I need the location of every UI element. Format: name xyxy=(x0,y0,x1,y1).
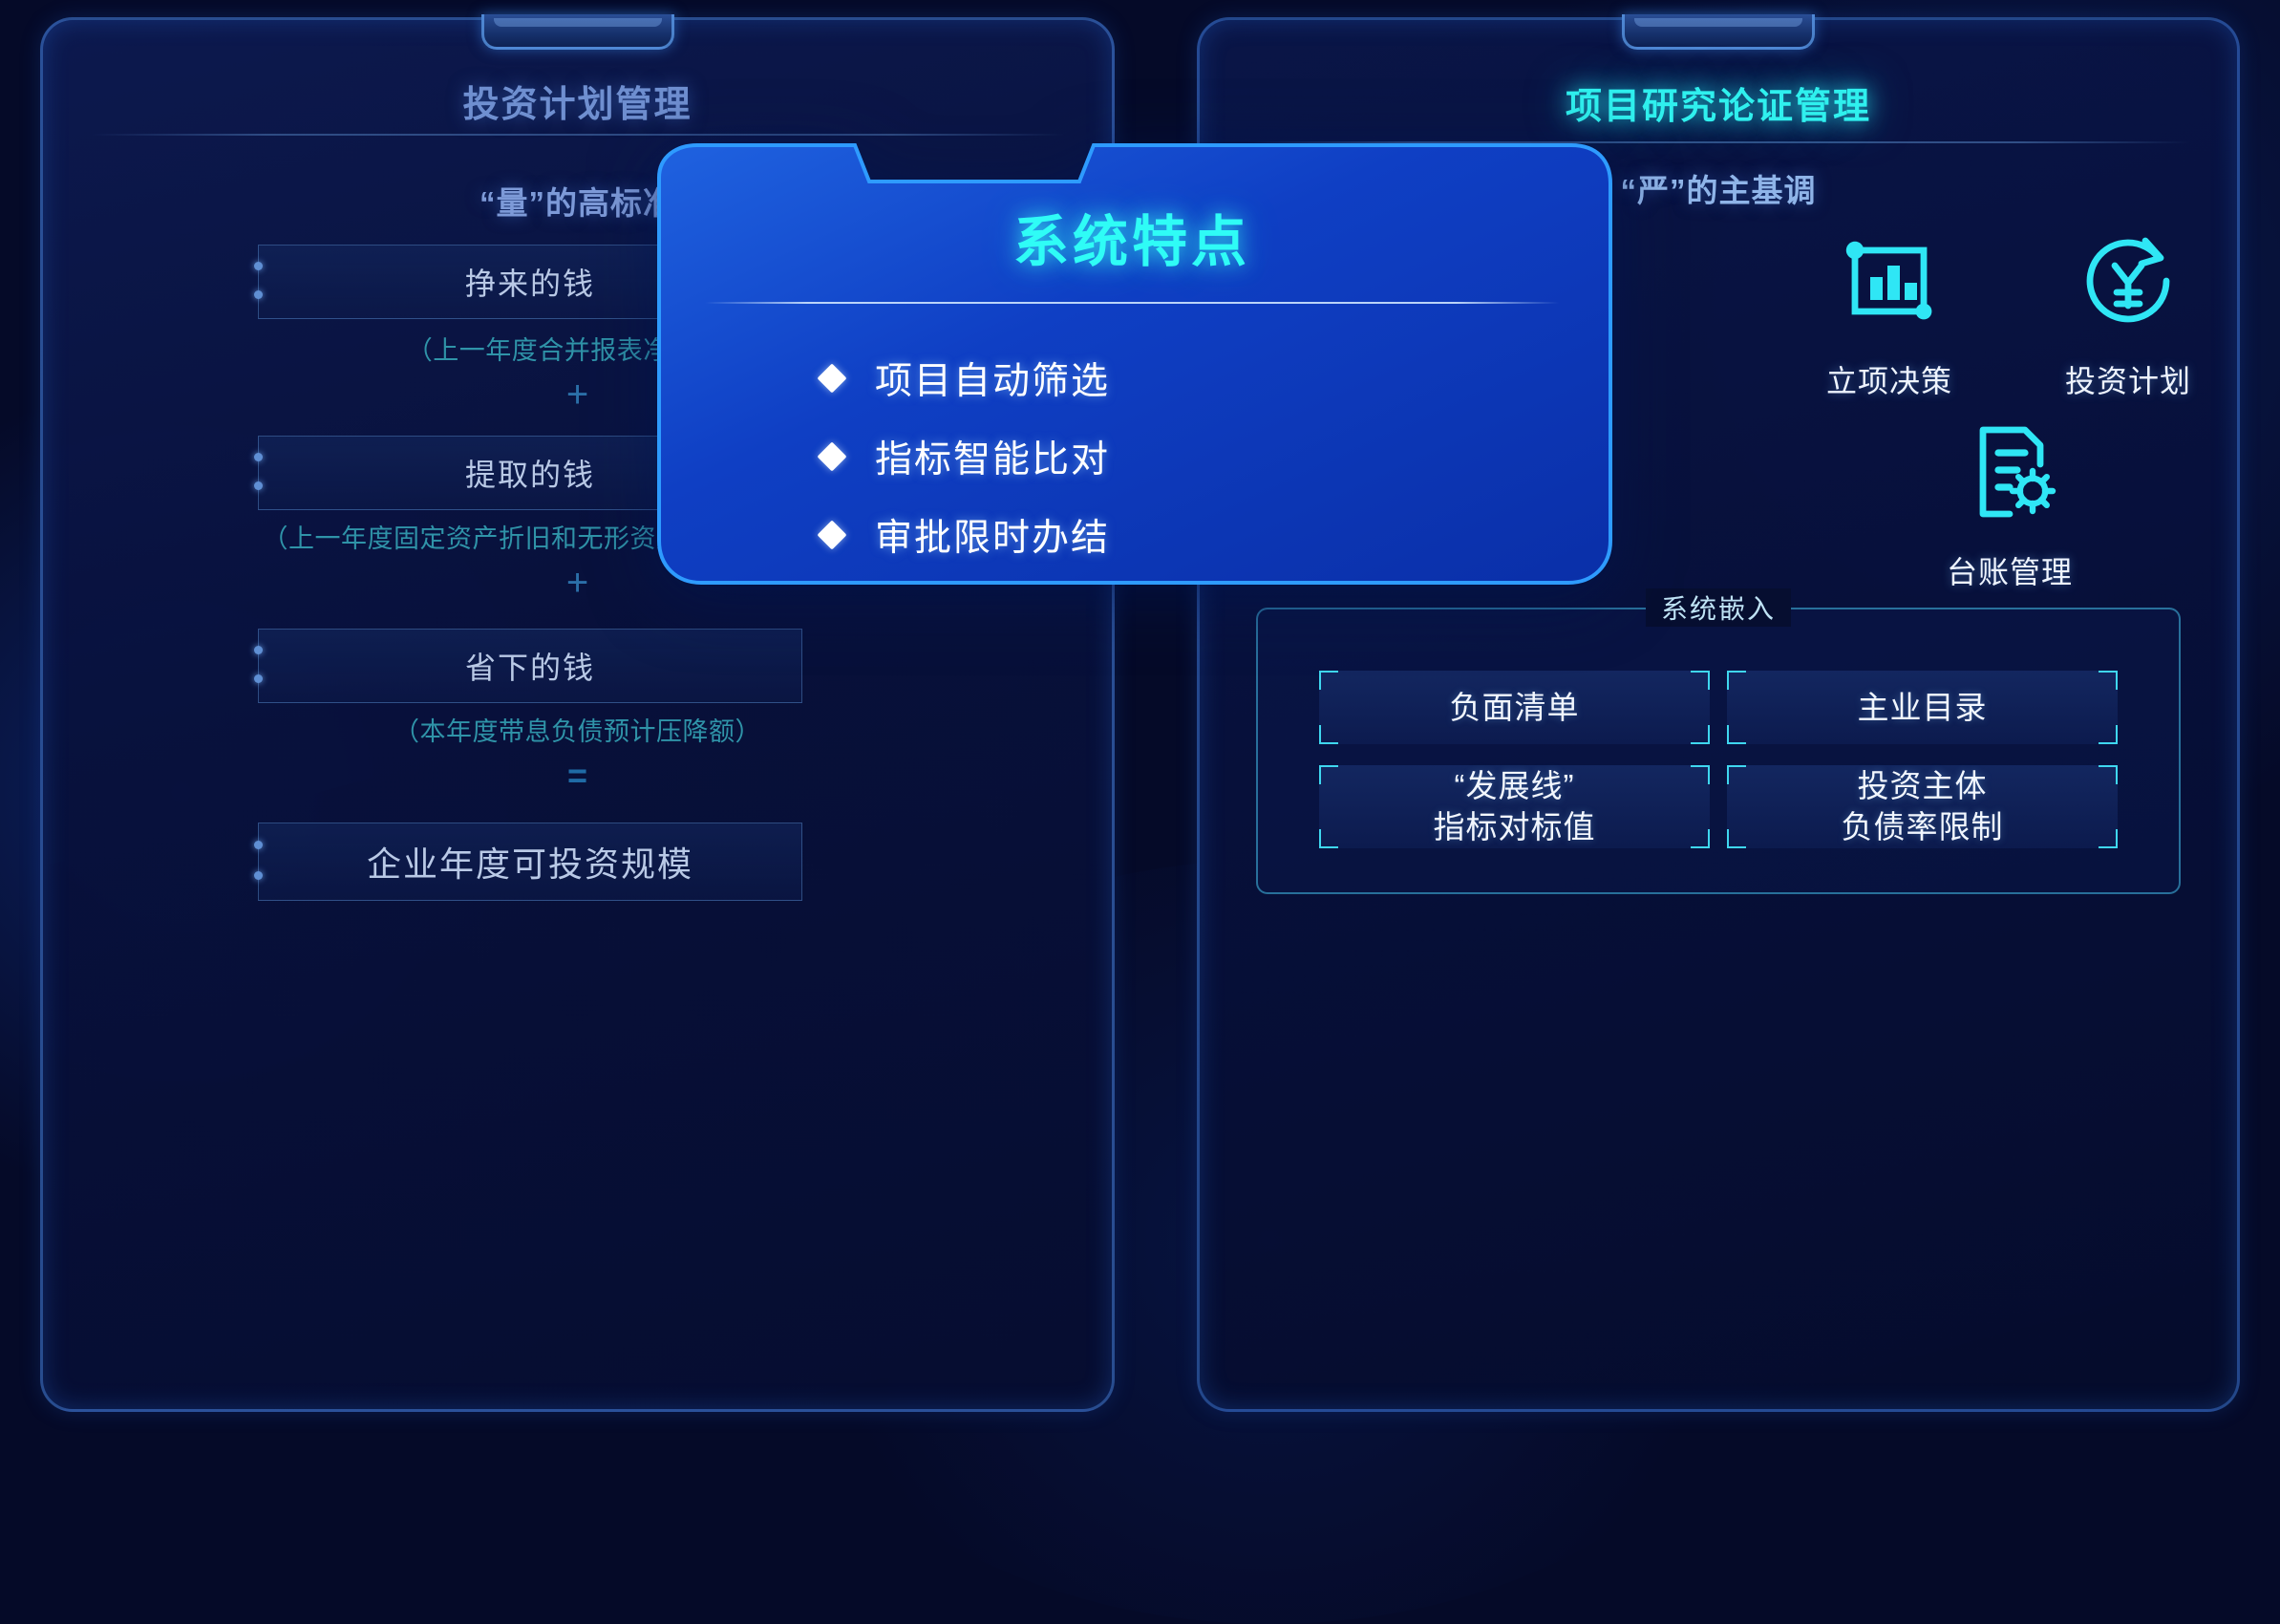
corner-mark xyxy=(2099,671,2118,690)
embed-cell-negative-list[interactable]: 负面清单 xyxy=(1319,671,1710,744)
corner-mark xyxy=(1691,725,1710,744)
embed-cell-investor-debt[interactable]: 投资主体 负债率限制 xyxy=(1727,765,2118,848)
result-label: 企业年度可投资规模 xyxy=(367,837,693,887)
connector-dot xyxy=(254,290,263,299)
connector-dot xyxy=(254,453,263,461)
embed-cell-main-business[interactable]: 主业目录 xyxy=(1727,671,2118,744)
page-title-left: 投资计划管理 xyxy=(40,75,1115,127)
money-box-label: 挣来的钱 xyxy=(465,260,595,304)
system-embed-grid: 负面清单 主业目录 “发展线” 指标对标值 xyxy=(1319,671,2118,848)
folder-card-divider xyxy=(705,302,1559,304)
money-box-label: 提取的钱 xyxy=(465,451,595,495)
system-features-folder-card[interactable]: 系统特点 项目自动筛选 指标智能比对 审批限时办结 xyxy=(630,139,1633,590)
corner-mark xyxy=(1691,765,1710,784)
yuan-refresh-icon xyxy=(2067,220,2189,342)
feature-label: 台账管理 xyxy=(1890,548,2129,592)
corner-mark xyxy=(1691,829,1710,848)
panel-notch xyxy=(481,14,674,50)
money-box-label: 省下的钱 xyxy=(465,644,595,688)
page-title-right: 项目研究论证管理 xyxy=(1197,76,2240,129)
connector-dot xyxy=(254,646,263,654)
embed-cell-label-line1: “发展线” xyxy=(1455,768,1575,803)
list-item-label: 指标智能比对 xyxy=(875,430,1110,483)
list-item[interactable]: 审批限时办结 xyxy=(821,508,1110,562)
feature-label: 投资计划 xyxy=(2009,357,2248,401)
corner-mark xyxy=(1727,725,1746,744)
list-item[interactable]: 指标智能比对 xyxy=(821,430,1110,483)
corner-mark xyxy=(2099,725,2118,744)
connector-dot xyxy=(254,262,263,270)
corner-mark xyxy=(2099,829,2118,848)
folder-card-feature-list: 项目自动筛选 指标智能比对 审批限时办结 xyxy=(821,352,1110,587)
panel-notch xyxy=(1622,14,1815,50)
corner-mark xyxy=(1727,765,1746,784)
connector-dot xyxy=(254,674,263,683)
feature-ledger[interactable]: 台账管理 xyxy=(1890,411,2129,592)
embed-cell-label: 负面清单 xyxy=(1450,687,1580,729)
feature-decision[interactable]: 立项决策 xyxy=(1770,220,2009,401)
document-gear-icon xyxy=(1949,411,2071,533)
money-box-saved[interactable]: 省下的钱 xyxy=(258,629,802,703)
corner-mark xyxy=(1319,725,1338,744)
list-item-label: 审批限时办结 xyxy=(875,508,1110,562)
corner-mark xyxy=(1319,765,1338,784)
corner-mark xyxy=(1727,829,1746,848)
bar-chart-frame-icon xyxy=(1828,220,1950,342)
connector-dot xyxy=(254,481,263,490)
diamond-bullet-icon xyxy=(817,520,846,549)
diamond-bullet-icon xyxy=(817,363,846,393)
note-saved: （本年度带息负债预计压降额） xyxy=(40,711,1115,748)
connector-dot xyxy=(254,871,263,880)
embed-cell-label-line1: 投资主体 xyxy=(1858,768,1988,803)
title-divider-left xyxy=(90,134,1065,136)
feature-label: 立项决策 xyxy=(1770,357,2009,401)
corner-mark xyxy=(1319,671,1338,690)
list-item[interactable]: 项目自动筛选 xyxy=(821,352,1110,405)
operator-equals: = xyxy=(40,756,1115,796)
diamond-bullet-icon xyxy=(817,441,846,471)
connector-dot xyxy=(254,841,263,849)
corner-mark xyxy=(1691,671,1710,690)
feature-investment-plan[interactable]: 投资计划 xyxy=(2009,220,2248,401)
embed-cell-development-line[interactable]: “发展线” 指标对标值 xyxy=(1319,765,1710,848)
embed-cell-label-line2: 指标对标值 xyxy=(1434,809,1596,844)
corner-mark xyxy=(2099,765,2118,784)
corner-mark xyxy=(1727,671,1746,690)
embed-cell-label: 主业目录 xyxy=(1858,687,1988,729)
embed-cell-label-line2: 负债率限制 xyxy=(1842,809,2004,844)
money-box-result[interactable]: 企业年度可投资规模 xyxy=(258,823,802,901)
system-embed-legend: 系统嵌入 xyxy=(1646,588,1791,627)
system-embed-group: 系统嵌入 负面清单 主业目录 “发 xyxy=(1256,608,2181,894)
folder-card-title: 系统特点 xyxy=(630,197,1633,277)
list-item-label: 项目自动筛选 xyxy=(875,352,1110,405)
corner-mark xyxy=(1319,829,1338,848)
